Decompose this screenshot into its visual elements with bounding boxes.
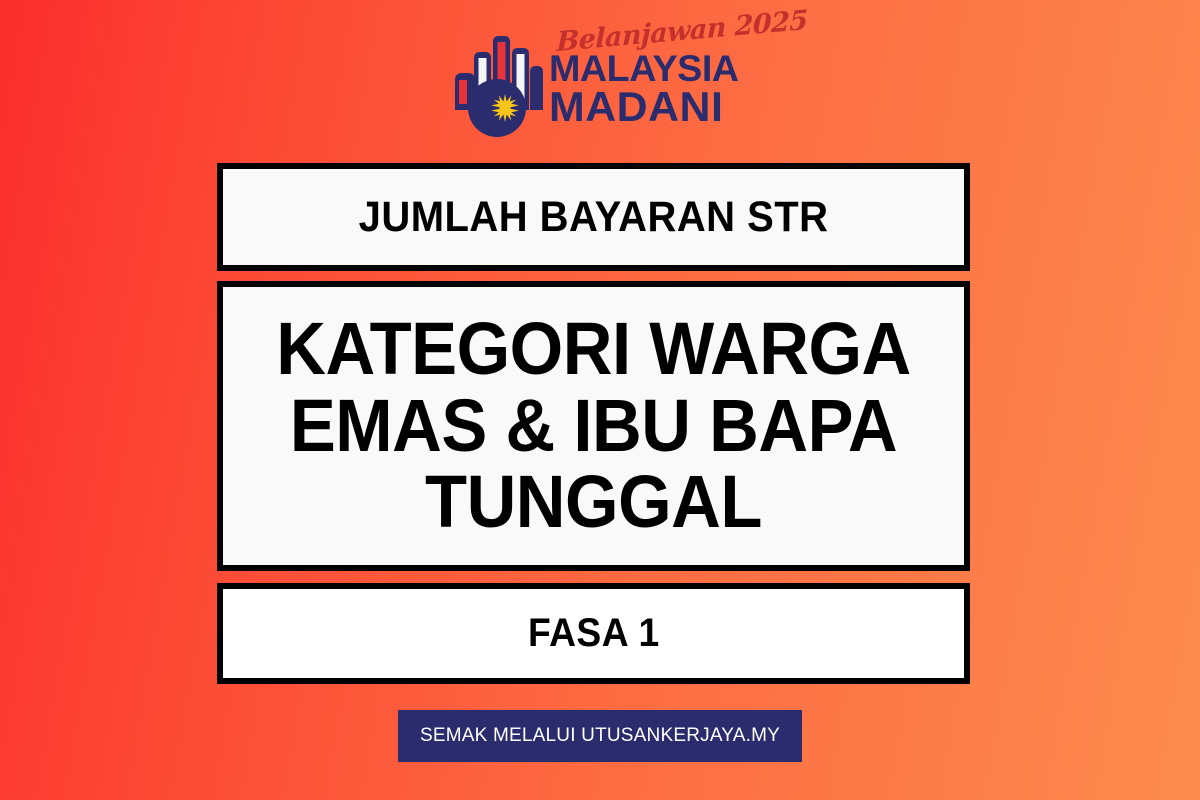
- headline-text: KATEGORI WARGA EMAS & IBU BAPA TUNGGAL: [249, 311, 938, 542]
- logo-wordmark: Belanjawan 2025 MALAYSIA MADANI: [549, 14, 749, 132]
- subtitle-text: JUMLAH BAYARAN STR: [359, 195, 829, 240]
- headline-card: KATEGORI WARGA EMAS & IBU BAPA TUNGGAL: [217, 281, 970, 571]
- phase-card: FASA 1: [217, 583, 970, 684]
- subtitle-card: JUMLAH BAYARAN STR: [217, 163, 970, 271]
- malaysia-madani-logo-mark-icon: [451, 28, 543, 138]
- source-banner-text: SEMAK MELALUI UTUSANKERJAYA.MY: [420, 725, 780, 747]
- logo-block: Belanjawan 2025 MALAYSIA MADANI: [0, 14, 1200, 144]
- phase-text: FASA 1: [528, 613, 660, 655]
- logo-inner: Belanjawan 2025 MALAYSIA MADANI: [451, 14, 749, 132]
- brand-line-malaysia: MALAYSIA: [549, 50, 739, 87]
- brand-line-madani: MADANI: [549, 86, 723, 128]
- source-banner[interactable]: SEMAK MELALUI UTUSANKERJAYA.MY: [398, 710, 802, 762]
